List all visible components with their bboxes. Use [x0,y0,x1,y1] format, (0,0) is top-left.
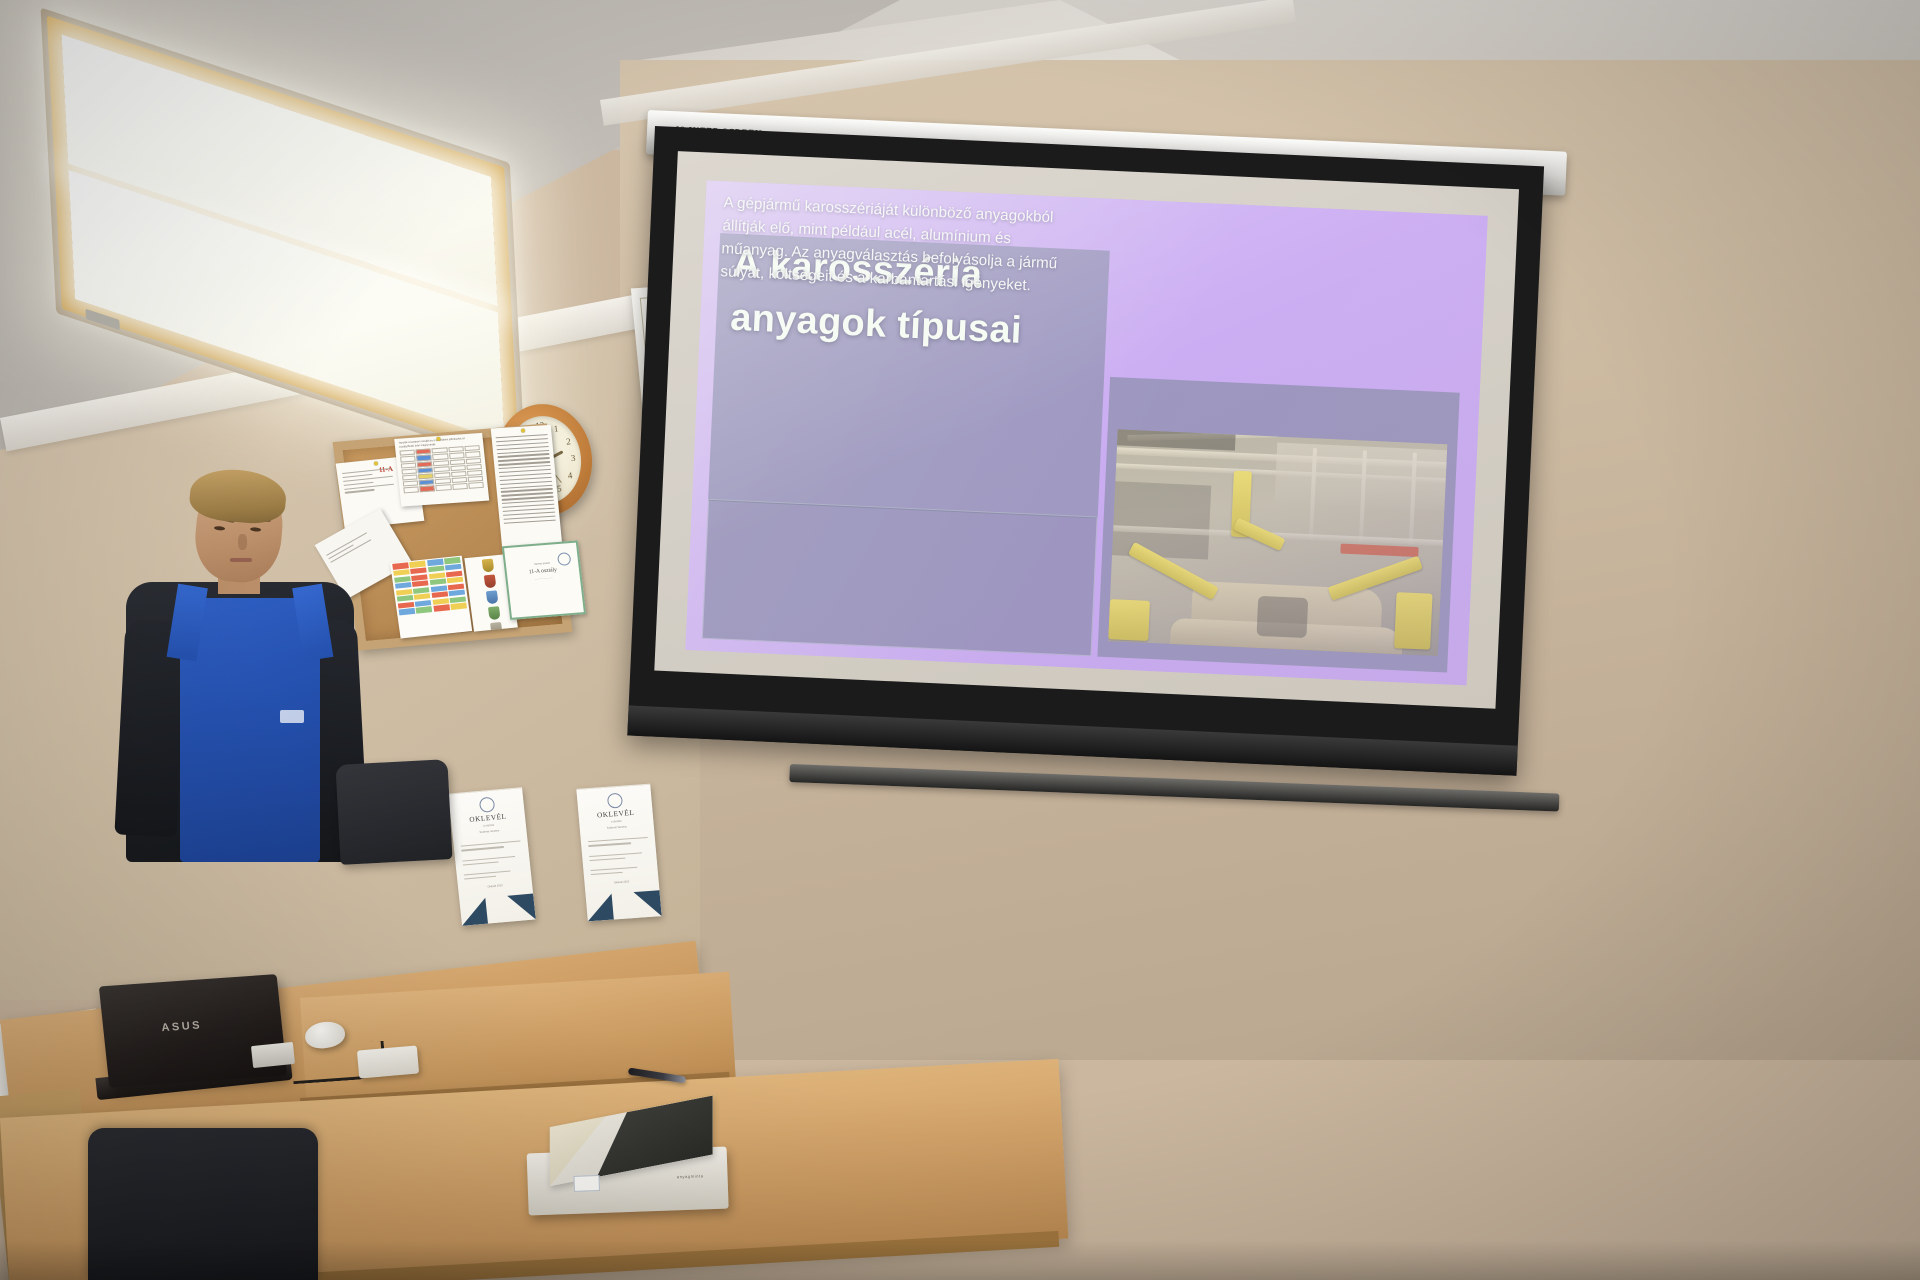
certificate-logo-icon [478,797,495,813]
colored-timetable-paper [390,556,472,639]
oklevel-certificate: OKLEVÉL a részére Szakmai Verseny Oklevé… [576,784,661,922]
crest-icon [483,574,496,588]
projection-surface: A karosszéria anyagok típusai [654,151,1519,709]
presenter-person [118,470,368,860]
cork-bulletin-board: 11-A Tanulók a tanterem rendjét és a tűz… [333,423,573,650]
crest-icon [490,622,503,632]
certificate-subtitle-3: Oklevél 2023 [458,882,532,893]
presenter-remote[interactable] [357,1045,419,1078]
person-nose [238,534,247,550]
sample-box-tag [573,1175,600,1192]
certificate-corner-decoration [459,898,488,926]
material-sample-box[interactable]: anyagminta [525,1109,728,1216]
laptop-sticker [251,1042,295,1068]
slide-photo-frame [1097,377,1459,673]
class-certificate: Sikeres átvétel 11-A osztály — — — — — — [502,540,586,619]
certificate-seal-icon [557,552,571,566]
slide-body-text: A gépjármű karosszériáját különböző anya… [720,191,1080,299]
sample-box-label: anyagminta [677,1173,704,1179]
schedule-grid-paper: Tanulók a tanterem rendjét és a tűzvédel… [394,433,489,507]
crest-icon [487,606,500,620]
office-chair-back [335,759,452,865]
slide-body-panel [702,499,1098,657]
crest-icon [485,590,498,604]
eye [250,527,261,532]
clock-numeral: 3 [570,453,576,463]
crest-icon [481,559,494,573]
certificate-logo-icon [606,793,622,809]
laptop[interactable]: ASUS [99,974,287,1088]
cork-surface: 11-A Tanulók a tanterem rendjét és a tűz… [343,433,563,641]
presentation-slide: A karosszéria anyagok típusai [685,180,1488,685]
certificate-corner-decoration [507,894,536,922]
projection-screen: A karosszéria anyagok típusai [627,126,1544,776]
eye [214,526,225,531]
clock-numeral: 2 [566,436,572,446]
floor-shadow [0,1240,1920,1280]
classroom-presentation-scene: 12 1 2 3 4 5 6 7 8 9 10 11 MAGYARORSZÁG … [0,0,1920,1280]
clock-numeral: 5 [557,483,563,493]
person-mouth [230,558,252,562]
clock-numeral: 1 [553,423,559,433]
certificate-subtitle-3: Oklevél 2023 [585,879,659,888]
assembly-line-photo [1108,429,1447,656]
pushpin-icon [521,428,525,432]
laptop-brand-logo: ASUS [161,1019,203,1034]
pushpin-icon [374,461,379,465]
certificate-corner-decoration [586,894,614,922]
overalls-logo-icon [280,710,304,723]
student-name-list-paper [491,425,563,552]
certificate-corner-decoration [634,890,662,918]
clock-numeral: 4 [567,470,573,480]
oklevel-certificate: OKLEVÉL a részére Szakmai Verseny Oklevé… [448,787,536,926]
